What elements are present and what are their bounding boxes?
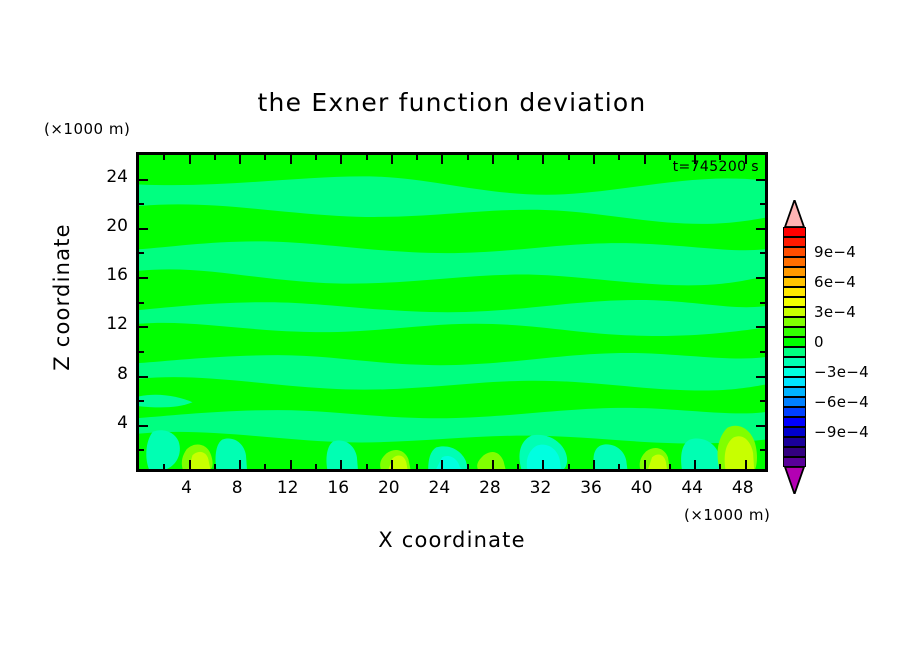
x-axis-minor-tick: [416, 155, 418, 160]
colorbar-segment: [783, 367, 806, 377]
x-axis-tick-label: 36: [580, 478, 602, 498]
y-axis-tick-label: 8: [88, 364, 128, 384]
x-axis-tick: [542, 155, 544, 164]
x-axis-tick: [189, 460, 191, 469]
x-axis-minor-tick: [669, 155, 671, 160]
x-axis-minor-tick: [719, 464, 721, 469]
x-axis-minor-tick: [568, 464, 570, 469]
y-axis-tick-label: 12: [88, 314, 128, 334]
y-axis-minor-tick: [760, 351, 765, 353]
y-axis-tick: [139, 277, 148, 279]
y-axis-unit-label: (×1000 m): [44, 120, 130, 138]
x-axis-tick: [239, 460, 241, 469]
x-axis-minor-tick: [467, 155, 469, 160]
x-axis-unit-label: (×1000 m): [684, 506, 770, 524]
x-axis-tick-label: 48: [732, 478, 754, 498]
x-axis-tick: [189, 155, 191, 164]
x-axis-minor-tick: [163, 155, 165, 160]
y-axis-tick: [756, 425, 765, 427]
colorbar-segment: [783, 457, 806, 467]
x-axis-tick-label: 12: [277, 478, 299, 498]
chart-title: the Exner function deviation: [0, 88, 904, 117]
colorbar-tick-label: 9e−4: [814, 243, 856, 261]
colorbar-segment: [783, 377, 806, 387]
colorbar-segment: [783, 277, 806, 287]
y-axis-tick: [139, 326, 148, 328]
y-axis-tick: [756, 179, 765, 181]
x-axis-tick-label: 44: [681, 478, 703, 498]
y-axis-minor-tick: [760, 302, 765, 304]
x-axis-tick-label: 40: [631, 478, 653, 498]
x-axis-tick: [593, 155, 595, 164]
y-axis-minor-tick: [139, 449, 144, 451]
x-axis-minor-tick: [366, 155, 368, 160]
x-axis-tick: [694, 460, 696, 469]
y-axis-title: Z coordinate: [50, 217, 74, 377]
y-axis-minor-tick: [760, 449, 765, 451]
x-axis-minor-tick: [618, 464, 620, 469]
x-axis-minor-tick: [264, 464, 266, 469]
colorbar-segment: [783, 387, 806, 397]
x-axis-minor-tick: [568, 155, 570, 160]
colorbar-segment: [783, 287, 806, 297]
colorbar-segment: [783, 337, 806, 347]
colorbar-segment: [783, 327, 806, 337]
x-axis-minor-tick: [163, 464, 165, 469]
colorbar-segment: [783, 437, 806, 447]
y-axis-minor-tick: [760, 400, 765, 402]
colorbar-segment: [783, 247, 806, 257]
x-axis-tick: [441, 155, 443, 164]
colorbar-segment: [783, 357, 806, 367]
colorbar-segment: [783, 417, 806, 427]
x-axis-tick: [391, 460, 393, 469]
colorbar-segment: [783, 297, 806, 307]
x-axis-minor-tick: [315, 155, 317, 160]
colorbar-segment: [783, 237, 806, 247]
x-axis-tick: [239, 155, 241, 164]
y-axis-minor-tick: [760, 252, 765, 254]
x-axis-minor-tick: [366, 464, 368, 469]
y-axis-tick-label: 20: [88, 216, 128, 236]
y-axis-minor-tick: [760, 203, 765, 205]
y-axis-minor-tick: [139, 400, 144, 402]
x-axis-minor-tick: [214, 155, 216, 160]
colorbar: 9e−46e−43e−40−3e−4−6e−4−9e−4: [783, 227, 806, 467]
x-axis-tick: [290, 460, 292, 469]
x-axis-minor-tick: [467, 464, 469, 469]
x-axis-tick: [492, 460, 494, 469]
y-axis-minor-tick: [139, 351, 144, 353]
colorbar-segment: [783, 257, 806, 267]
y-axis-tick: [756, 376, 765, 378]
x-axis-tick: [644, 460, 646, 469]
colorbar-tick-label: −6e−4: [814, 393, 869, 411]
y-axis-tick-label: 16: [88, 265, 128, 285]
time-annotation: t=745200 s: [673, 159, 759, 175]
y-axis-tick: [139, 228, 148, 230]
x-axis-tick: [340, 155, 342, 164]
x-axis-tick-label: 32: [530, 478, 552, 498]
x-axis-title: X coordinate: [0, 528, 904, 552]
x-axis-tick-label: 24: [429, 478, 451, 498]
figure-canvas: the Exner function deviation (×1000 m) Z…: [0, 0, 904, 654]
colorbar-segment: [783, 407, 806, 417]
x-axis-minor-tick: [517, 155, 519, 160]
y-axis-tick-label: 4: [88, 413, 128, 433]
colorbar-tick-label: 6e−4: [814, 273, 856, 291]
x-axis-tick: [391, 155, 393, 164]
colorbar-segment: [783, 447, 806, 457]
contour-field: [139, 155, 765, 469]
colorbar-tick-label: 0: [814, 333, 824, 351]
x-axis-tick: [441, 460, 443, 469]
x-axis-minor-tick: [669, 464, 671, 469]
x-axis-tick-label: 8: [232, 478, 243, 498]
x-axis-tick-label: 16: [327, 478, 349, 498]
y-axis-minor-tick: [139, 252, 144, 254]
x-axis-tick-label: 28: [479, 478, 501, 498]
x-axis-minor-tick: [618, 155, 620, 160]
x-axis-minor-tick: [214, 464, 216, 469]
colorbar-over-arrow: [783, 200, 806, 227]
colorbar-tick-label: −9e−4: [814, 423, 869, 441]
colorbar-segment: [783, 307, 806, 317]
y-axis-minor-tick: [139, 203, 144, 205]
y-axis-tick: [756, 228, 765, 230]
y-axis-tick: [139, 376, 148, 378]
x-axis-tick: [745, 460, 747, 469]
x-axis-minor-tick: [517, 464, 519, 469]
colorbar-segment: [783, 227, 806, 237]
colorbar-tick-label: −3e−4: [814, 363, 869, 381]
x-axis-tick-label: 20: [378, 478, 400, 498]
x-axis-minor-tick: [416, 464, 418, 469]
colorbar-segment: [783, 397, 806, 407]
colorbar-segment: [783, 317, 806, 327]
y-axis-minor-tick: [139, 302, 144, 304]
y-axis-tick: [139, 179, 148, 181]
x-axis-minor-tick: [315, 464, 317, 469]
x-axis-minor-tick: [264, 155, 266, 160]
x-axis-tick: [290, 155, 292, 164]
x-axis-tick: [340, 460, 342, 469]
x-axis-tick: [542, 460, 544, 469]
contour-plot-area: t=745200 s: [136, 152, 768, 472]
x-axis-tick-label: 4: [181, 478, 192, 498]
x-axis-tick: [492, 155, 494, 164]
colorbar-under-arrow: [783, 467, 806, 494]
y-axis-tick: [756, 277, 765, 279]
colorbar-segment: [783, 347, 806, 357]
colorbar-tick-label: 3e−4: [814, 303, 856, 321]
x-axis-tick: [593, 460, 595, 469]
colorbar-segment: [783, 427, 806, 437]
y-axis-tick: [139, 425, 148, 427]
colorbar-segment: [783, 267, 806, 277]
y-axis-tick: [756, 326, 765, 328]
x-axis-tick: [644, 155, 646, 164]
y-axis-tick-label: 24: [88, 167, 128, 187]
